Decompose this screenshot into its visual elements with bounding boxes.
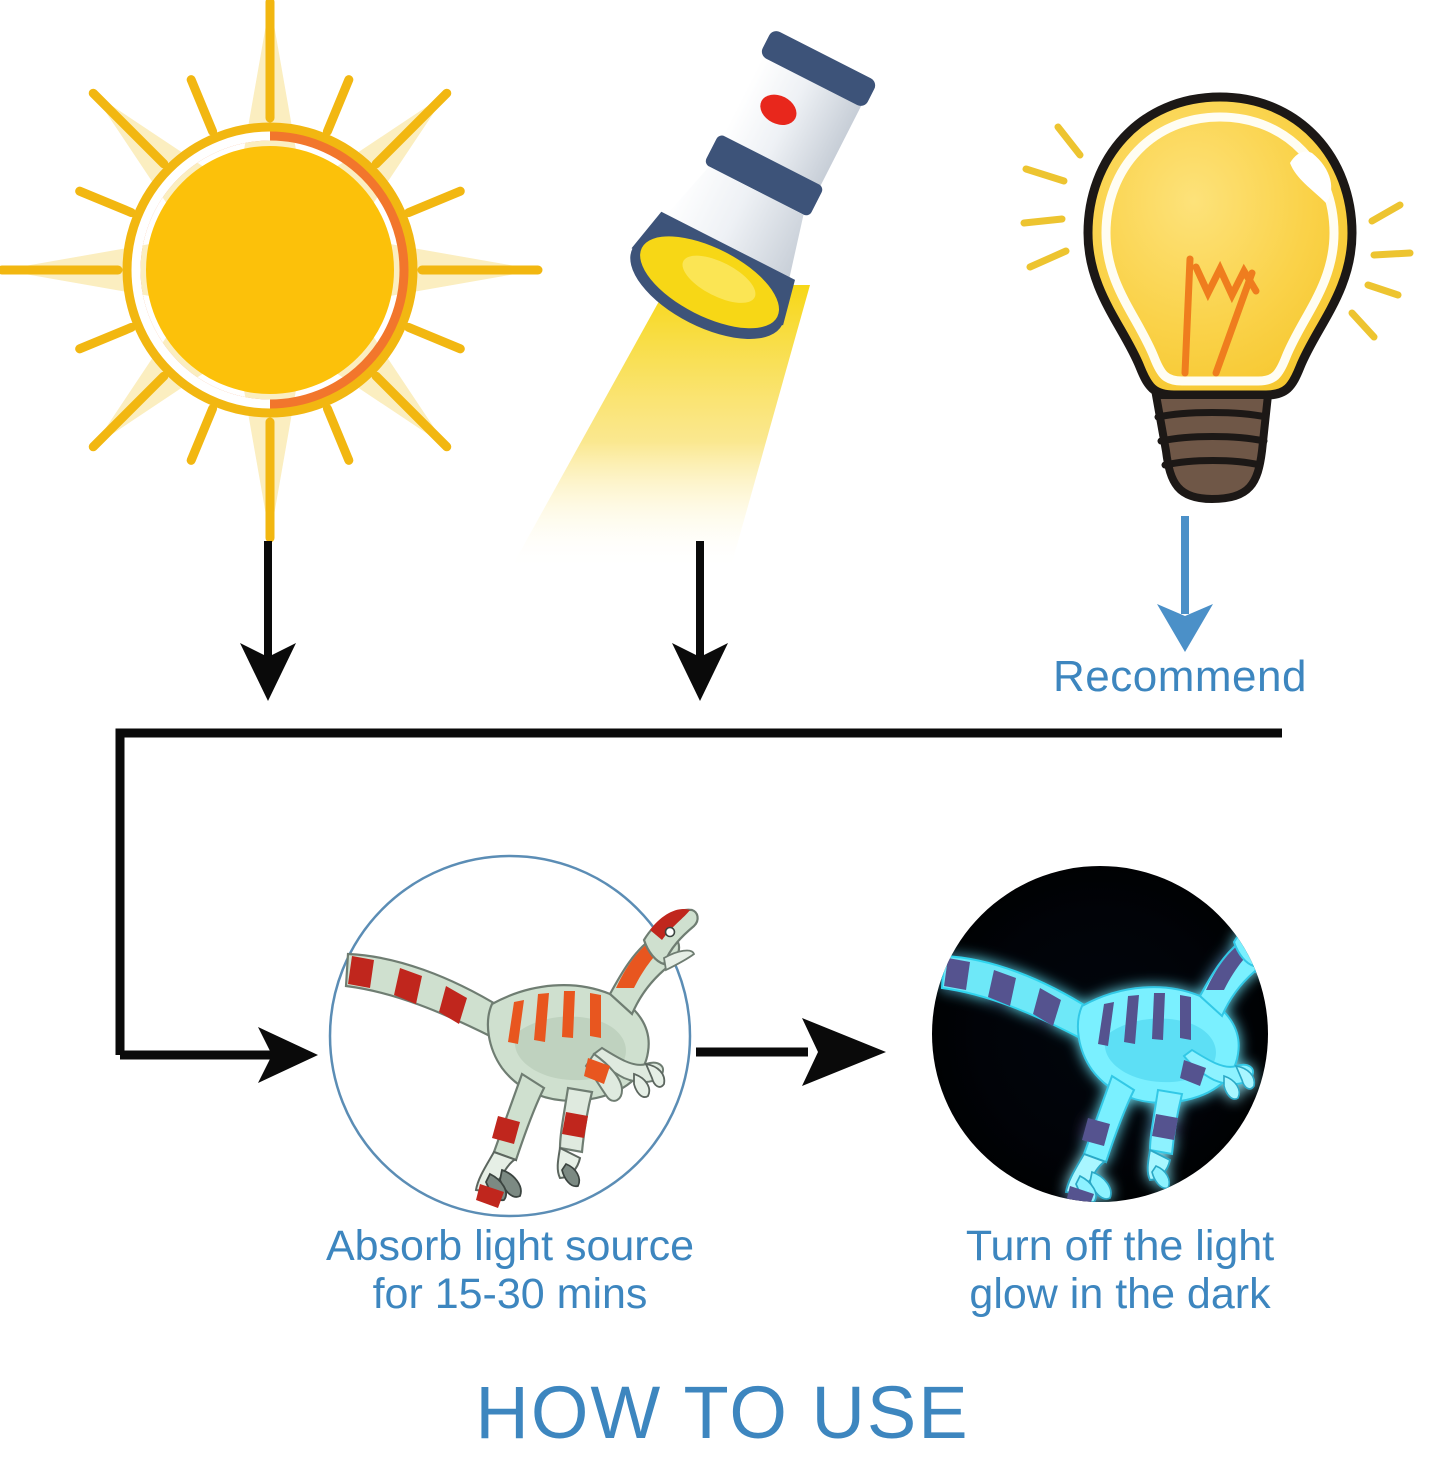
- dinosaur-glowing-icon: [930, 864, 1270, 1204]
- arrow-step1-to-step2: [690, 1010, 900, 1100]
- blue-down-arrow-recommend: [1148, 512, 1228, 662]
- black-down-arrow-flashlight: [662, 535, 742, 705]
- light-bulb-icon: [1000, 55, 1440, 535]
- sun-icon: [0, 0, 540, 540]
- dinosaur-daylight-icon: [326, 852, 694, 1220]
- how-to-use-infographic: Recommend: [0, 0, 1445, 1457]
- absorb-step-label: Absorb light source for 15-30 mins: [250, 1222, 770, 1318]
- page-title: HOW TO USE: [0, 1372, 1445, 1455]
- black-down-arrow-sun: [230, 535, 310, 705]
- recommend-label: Recommend: [1000, 652, 1360, 701]
- glow-step-label: Turn off the light glow in the dark: [880, 1222, 1360, 1318]
- flashlight-icon: [480, 10, 980, 570]
